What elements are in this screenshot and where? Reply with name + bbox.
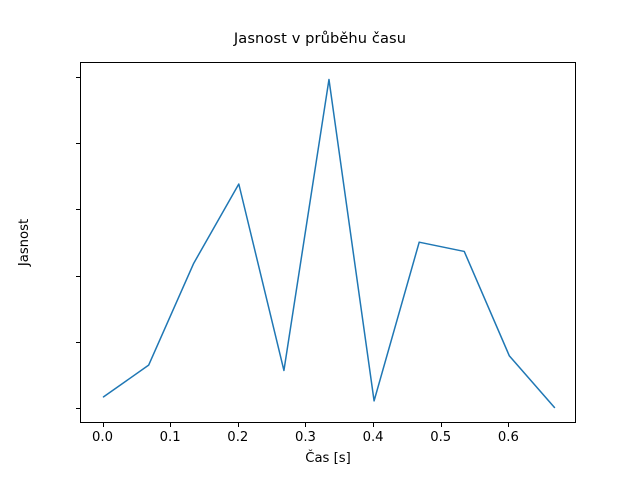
x-axis-label: Čas [s] — [80, 451, 576, 466]
x-tick-label: 0.0 — [92, 430, 113, 445]
x-tick-label: 0.4 — [363, 430, 384, 445]
x-tick-label: 0.3 — [295, 430, 316, 445]
y-axis-label: Jasnost — [14, 62, 36, 423]
x-tick-label: 0.6 — [498, 430, 519, 445]
data-series-line — [104, 80, 555, 408]
x-tick-label: 0.5 — [430, 430, 451, 445]
chart-title: Jasnost v průběhu času — [0, 30, 640, 47]
x-tick-label: 0.1 — [160, 430, 181, 445]
data-line-svg — [81, 63, 577, 424]
chart-figure: Jasnost v průběhu času Jasnost 010020030… — [0, 0, 640, 480]
x-tick-label: 0.2 — [227, 430, 248, 445]
plot-area — [80, 62, 576, 423]
